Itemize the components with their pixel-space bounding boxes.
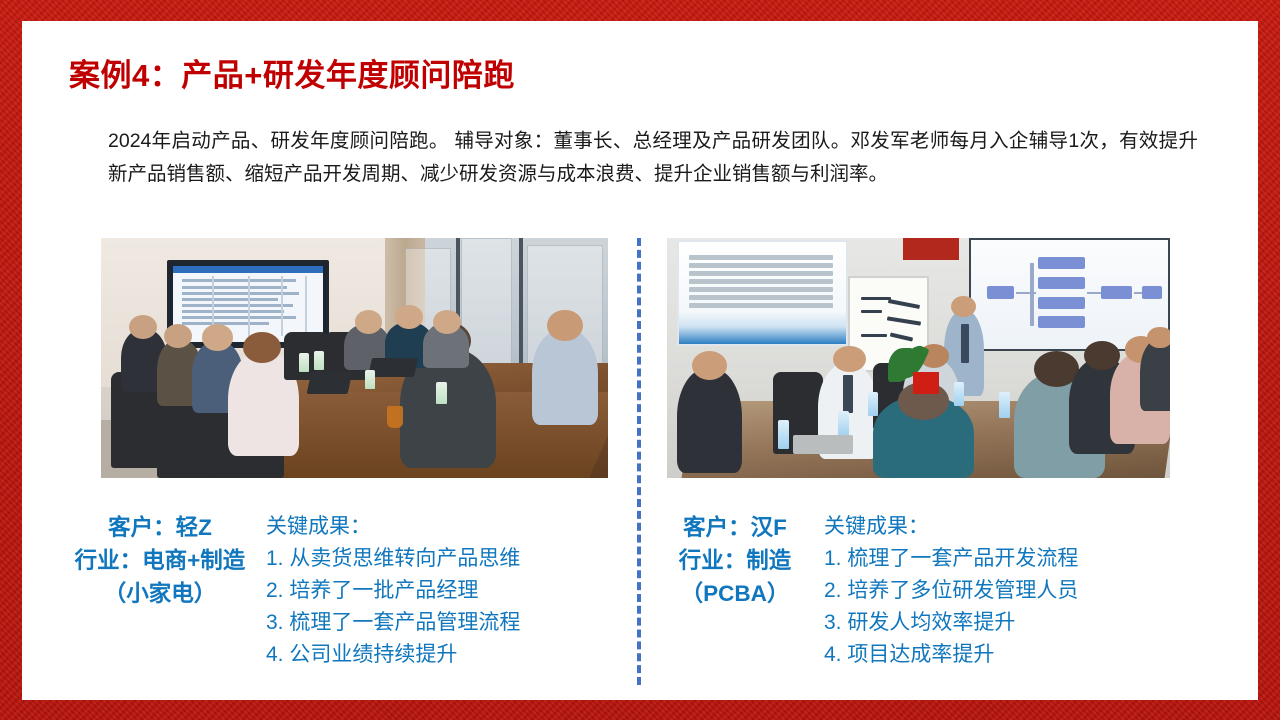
intro-paragraph: 2024年启动产品、研发年度顾问陪跑。 辅导对象：董事长、总经理及产品研发团队。…	[108, 125, 1198, 191]
case-left-result-2: 2. 培养了一批产品经理	[266, 575, 520, 607]
projection-screen	[969, 238, 1170, 351]
poster-board	[677, 240, 848, 346]
vertical-dashed-divider	[637, 238, 641, 685]
case-right-photo	[667, 238, 1170, 478]
case-right-results: 关键成果： 1. 梳理了一套产品开发流程 2. 培养了多位研发管理人员 3. 研…	[824, 511, 1078, 671]
case-left-result-3: 3. 梳理了一套产品管理流程	[266, 607, 520, 639]
case-left-industry-note: （小家电）	[62, 577, 258, 610]
case-right-result-2: 2. 培养了多位研发管理人员	[824, 575, 1078, 607]
case-right-result-1: 1. 梳理了一套产品开发流程	[824, 543, 1078, 575]
case-left-result-1: 1. 从卖货思维转向产品思维	[266, 543, 520, 575]
slide-root: 案例4：产品+研发年度顾问陪跑 2024年启动产品、研发年度顾问陪跑。 辅导对象…	[0, 0, 1280, 720]
boardroom-illustration	[101, 238, 608, 478]
case-left-caption: 客户：轻Z 行业：电商+制造 （小家电） 关键成果： 1. 从卖货思维转向产品思…	[62, 511, 520, 671]
case-left-results-title: 关键成果：	[266, 511, 520, 543]
case-right-client: 客户：汉F	[660, 511, 810, 544]
slide-canvas: 案例4：产品+研发年度顾问陪跑 2024年启动产品、研发年度顾问陪跑。 辅导对象…	[22, 21, 1258, 700]
case-right-caption: 客户：汉F 行业：制造 （PCBA） 关键成果： 1. 梳理了一套产品开发流程 …	[660, 511, 1078, 671]
case-left-client: 客户：轻Z	[62, 511, 258, 544]
case-left-photo	[101, 238, 608, 478]
case-left-results: 关键成果： 1. 从卖货思维转向产品思维 2. 培养了一批产品经理 3. 梳理了…	[266, 511, 520, 671]
case-right-client-info: 客户：汉F 行业：制造 （PCBA）	[660, 511, 810, 610]
case-right-result-3: 3. 研发人均效率提升	[824, 607, 1078, 639]
case-right-industry: 行业：制造	[660, 544, 810, 577]
case-left-industry: 行业：电商+制造	[62, 544, 258, 577]
training-room-illustration	[667, 238, 1170, 478]
case-right-industry-note: （PCBA）	[660, 577, 810, 610]
page-title: 案例4：产品+研发年度顾问陪跑	[69, 50, 515, 95]
case-right-result-4: 4. 项目达成率提升	[824, 639, 1078, 671]
case-left-result-4: 4. 公司业绩持续提升	[266, 639, 520, 671]
case-right-results-title: 关键成果：	[824, 511, 1078, 543]
case-left-client-info: 客户：轻Z 行业：电商+制造 （小家电）	[62, 511, 258, 610]
